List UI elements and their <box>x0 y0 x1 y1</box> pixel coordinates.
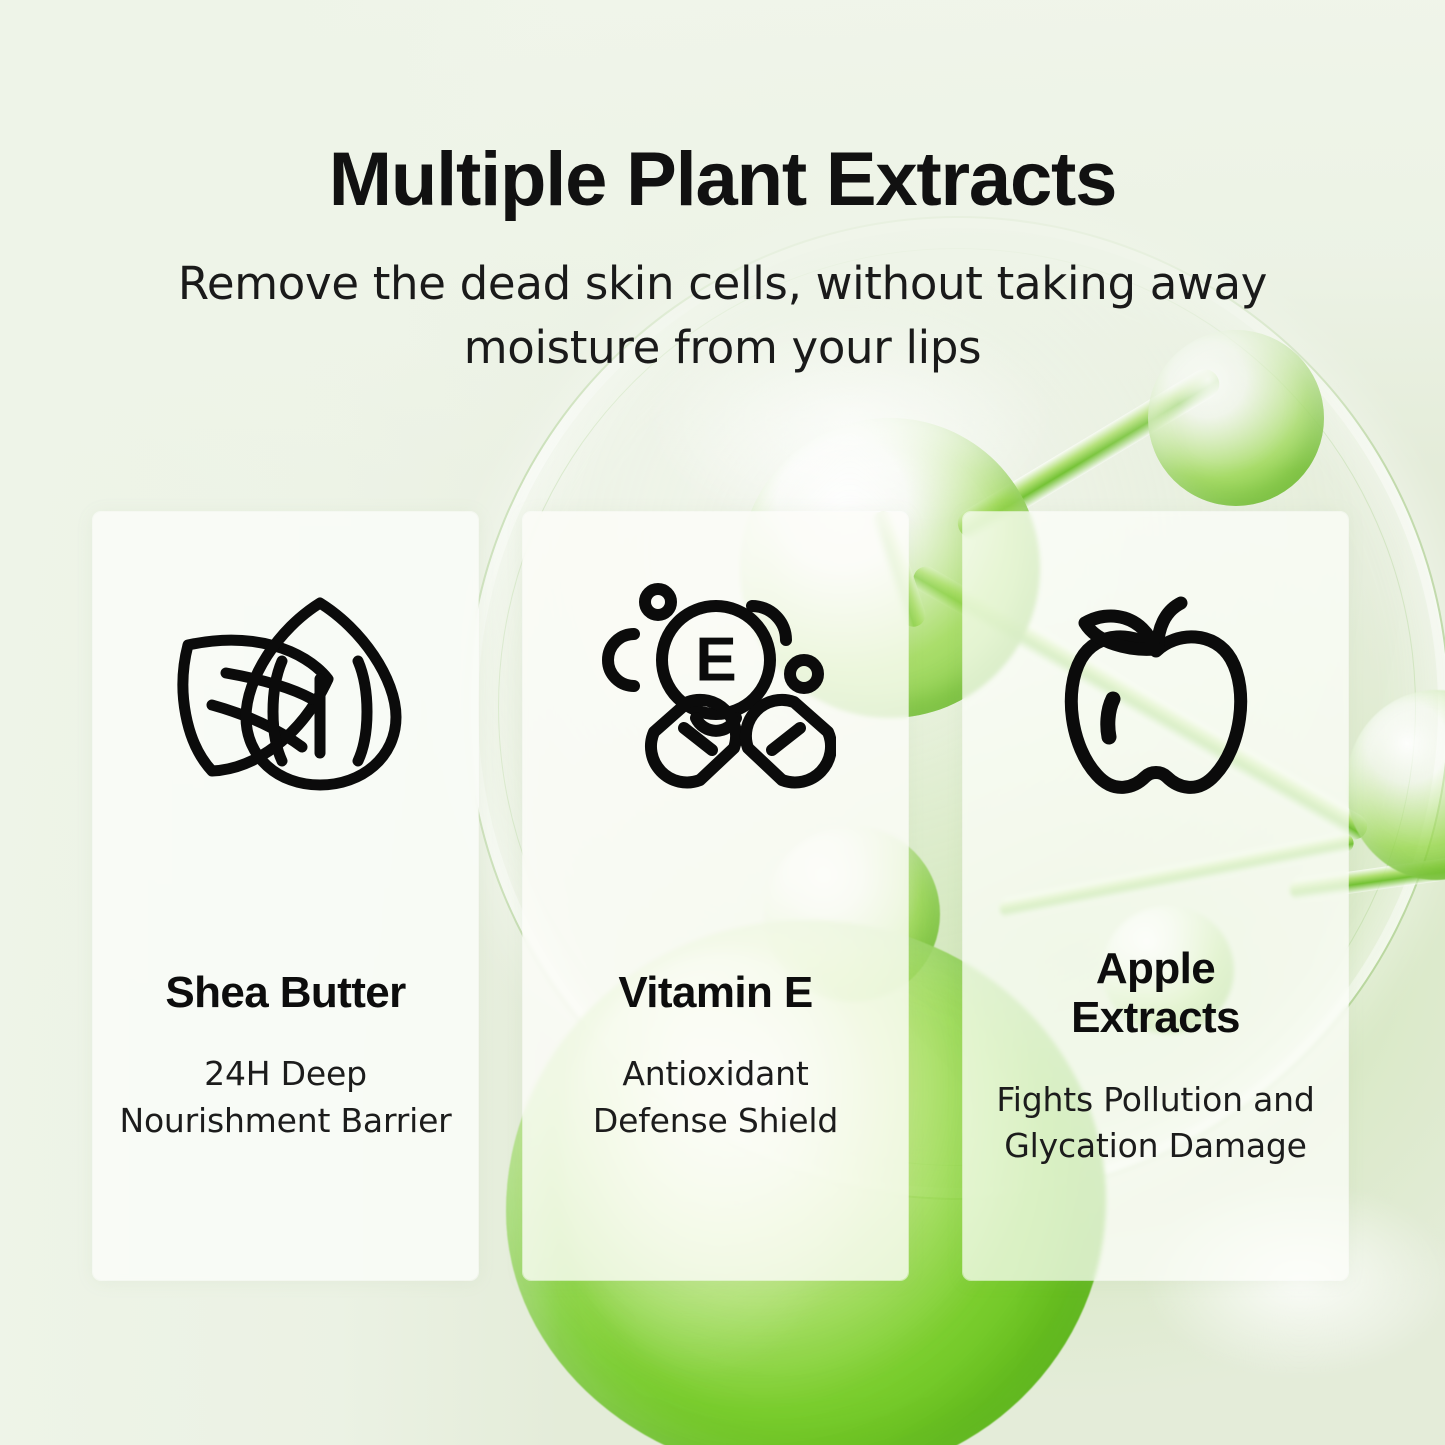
svg-text:E: E <box>695 626 736 695</box>
feature-card-body: Antioxidant Defense Shield <box>593 1051 838 1145</box>
apple-icon <box>963 512 1348 882</box>
page-title: Multiple Plant Extracts <box>0 0 1445 218</box>
feature-card-body: Fights Pollution and Glycation Damage <box>996 1077 1314 1171</box>
feature-card-title: Apple Extracts <box>1071 944 1240 1043</box>
promo-banner: Multiple Plant Extracts Remove the dead … <box>0 0 1445 1445</box>
feature-card-shea-butter[interactable]: Shea Butter 24H Deep Nourishment Barrier <box>93 512 478 1280</box>
header: Multiple Plant Extracts Remove the dead … <box>0 0 1445 380</box>
feature-card-vitamin-e[interactable]: E Vitamin E Antioxidant Defen <box>523 512 908 1280</box>
feature-card-title: Shea Butter <box>165 968 405 1017</box>
feature-card-apple-extracts[interactable]: Apple Extracts Fights Pollution and Glyc… <box>963 512 1348 1280</box>
page-subtitle: Remove the dead skin cells, without taki… <box>108 218 1338 380</box>
feature-card-title: Vitamin E <box>618 968 812 1017</box>
vitamin-e-capsules-icon: E <box>523 512 908 882</box>
almond-nuts-icon <box>93 512 478 882</box>
feature-card-body: 24H Deep Nourishment Barrier <box>119 1051 451 1145</box>
feature-card-list: Shea Butter 24H Deep Nourishment Barrier… <box>0 512 1445 1282</box>
